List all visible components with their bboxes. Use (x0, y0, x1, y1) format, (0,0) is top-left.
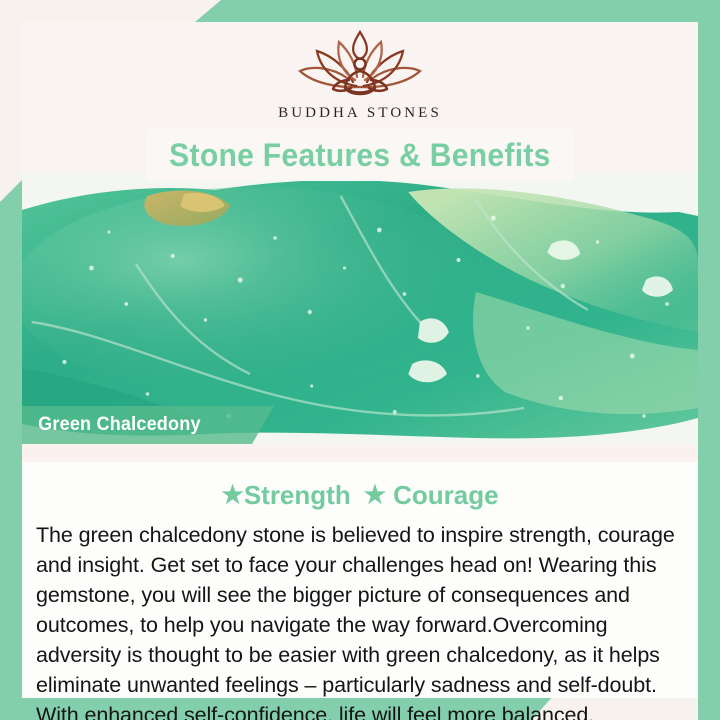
photo-divider (22, 444, 698, 462)
brand-name: BUDDHA STONES (278, 105, 442, 122)
frame-edge-top (195, 0, 720, 22)
section-title-band: Stone Features & Benefits (147, 129, 573, 181)
lotus-meditation-figure-icon (285, 28, 435, 102)
content-card: BUDDHA STONES Stone Features & Benefits (22, 22, 698, 698)
frame-edge-right (698, 0, 720, 720)
keyword-strength: ★ Strength (221, 480, 350, 511)
frame-edge-left (0, 180, 22, 720)
stone-name-banner: Green Chalcedony (22, 406, 274, 444)
keyword-courage-label: Courage (393, 480, 498, 511)
benefits-panel: ★ Strength ★ Courage The green chalcedon… (22, 462, 698, 698)
stone-name-label: Green Chalcedony (22, 414, 201, 436)
star-icon: ★ (221, 483, 243, 508)
keyword-courage: ★ Courage (364, 480, 499, 511)
green-chalcedony-raw-stone-photo: Green Chalcedony (22, 172, 698, 444)
keyword-strength-label: Strength (244, 480, 351, 511)
page-title: Stone Features & Benefits (169, 137, 550, 174)
benefits-description: The green chalcedony stone is believed t… (32, 520, 688, 720)
star-icon: ★ (364, 483, 386, 508)
infographic-page: BUDDHA STONES Stone Features & Benefits (0, 0, 720, 720)
keyword-row: ★ Strength ★ Courage (32, 480, 688, 511)
